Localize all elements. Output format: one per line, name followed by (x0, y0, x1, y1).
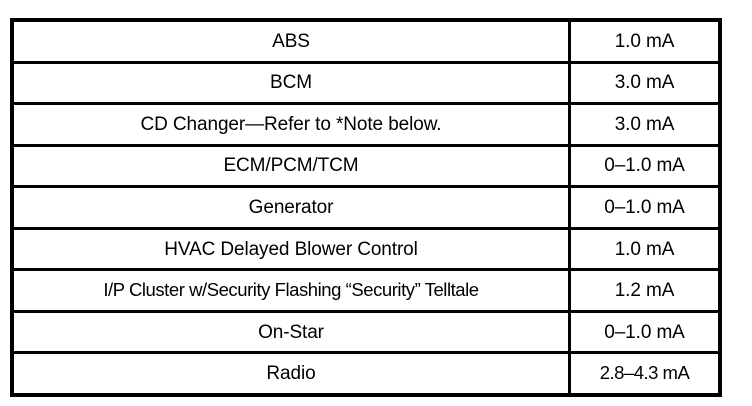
table-row: HVAC Delayed Blower Control 1.0 mA (13, 228, 720, 270)
component-label: I/P Cluster w/Security Flashing “Securit… (14, 281, 568, 300)
current-value: 2.8–4.3 mA (571, 364, 718, 383)
current-value: 1.0 mA (571, 32, 718, 51)
table-row: ABS 1.0 mA (13, 21, 720, 63)
component-label: Radio (14, 364, 568, 383)
component-label: ABS (14, 32, 568, 51)
component-label: On-Star (14, 323, 568, 342)
component-label: HVAC Delayed Blower Control (14, 240, 568, 259)
table-cell-component: HVAC Delayed Blower Control (13, 228, 570, 270)
table-cell-component: On-Star (13, 311, 570, 353)
table-row: Radio 2.8–4.3 mA (13, 353, 720, 395)
table-cell-component: Radio (13, 353, 570, 395)
table-body: ABS 1.0 mA BCM 3.0 mA CD Changer—Refer t… (13, 21, 720, 395)
current-value: 3.0 mA (571, 115, 718, 134)
component-label: BCM (14, 73, 568, 92)
current-value: 0–1.0 mA (571, 323, 718, 342)
table-cell-value: 1.0 mA (570, 21, 720, 63)
component-label: ECM/PCM/TCM (14, 156, 568, 175)
table-cell-component: Generator (13, 187, 570, 229)
table-cell-component: ABS (13, 21, 570, 63)
table-row: ECM/PCM/TCM 0–1.0 mA (13, 145, 720, 187)
table-row: CD Changer—Refer to *Note below. 3.0 mA (13, 104, 720, 146)
current-value: 1.2 mA (571, 281, 718, 300)
parasitic-current-table: ABS 1.0 mA BCM 3.0 mA CD Changer—Refer t… (11, 19, 721, 396)
table-cell-component: BCM (13, 62, 570, 104)
table-row: On-Star 0–1.0 mA (13, 311, 720, 353)
component-label: Generator (14, 198, 568, 217)
current-value: 0–1.0 mA (571, 156, 718, 175)
table-cell-value: 0–1.0 mA (570, 145, 720, 187)
table-cell-component: ECM/PCM/TCM (13, 145, 570, 187)
page: ABS 1.0 mA BCM 3.0 mA CD Changer—Refer t… (0, 0, 752, 406)
table-cell-value: 3.0 mA (570, 104, 720, 146)
current-value: 1.0 mA (571, 240, 718, 259)
current-value: 3.0 mA (571, 73, 718, 92)
table-cell-component: CD Changer—Refer to *Note below. (13, 104, 570, 146)
table-cell-value: 0–1.0 mA (570, 187, 720, 229)
table-cell-value: 1.0 mA (570, 228, 720, 270)
table-cell-value: 0–1.0 mA (570, 311, 720, 353)
table-cell-value: 2.8–4.3 mA (570, 353, 720, 395)
table-cell-value: 1.2 mA (570, 270, 720, 312)
table-cell-value: 3.0 mA (570, 62, 720, 104)
table-cell-component: I/P Cluster w/Security Flashing “Securit… (13, 270, 570, 312)
current-value: 0–1.0 mA (571, 198, 718, 217)
table-row: BCM 3.0 mA (13, 62, 720, 104)
table-row: I/P Cluster w/Security Flashing “Securit… (13, 270, 720, 312)
component-label: CD Changer—Refer to *Note below. (14, 115, 568, 134)
table-row: Generator 0–1.0 mA (13, 187, 720, 229)
